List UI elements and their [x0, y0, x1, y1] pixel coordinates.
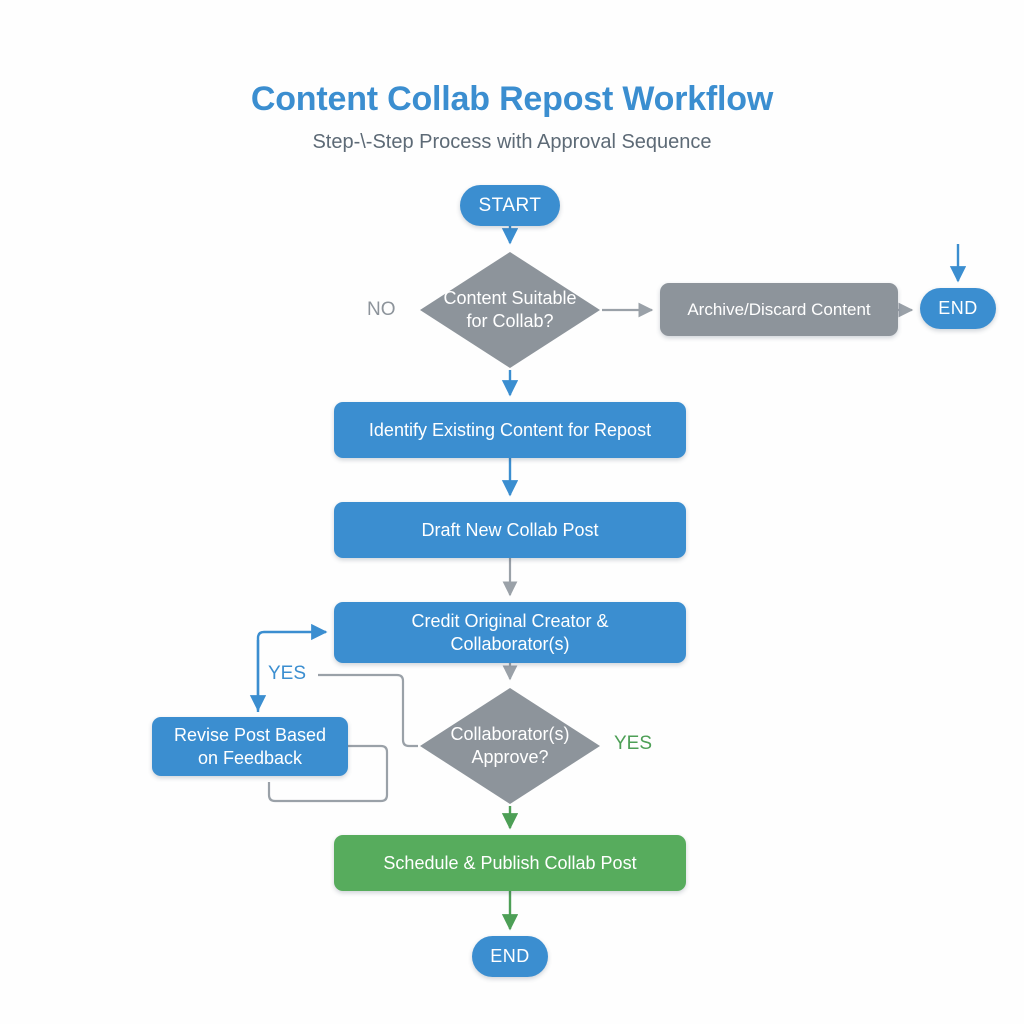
edge-label-no: NO: [367, 299, 396, 321]
node-credit-original-creator-line1: Credit Original Creator &: [411, 610, 608, 633]
node-credit-original-creator[interactable]: Credit Original Creator & Collaborator(s…: [334, 602, 686, 663]
node-archive-discard[interactable]: Archive/Discard Content: [660, 283, 898, 336]
node-schedule-publish-collab-post[interactable]: Schedule & Publish Collab Post: [334, 835, 686, 891]
node-collaborators-approve-decision[interactable]: Collaborator(s) Approve?: [418, 686, 602, 806]
flowchart-canvas: Content Collab Repost Workflow Step-\-St…: [0, 0, 1024, 1024]
page-title: Content Collab Repost Workflow: [0, 80, 1024, 119]
edge-label-yes-revise: YES: [268, 663, 306, 685]
node-identify-existing-content-label: Identify Existing Content for Repost: [369, 419, 651, 442]
node-start[interactable]: START: [460, 185, 560, 226]
node-draft-new-collab-post[interactable]: Draft New Collab Post: [334, 502, 686, 558]
node-identify-existing-content[interactable]: Identify Existing Content for Repost: [334, 402, 686, 458]
node-credit-original-creator-line2: Collaborator(s): [411, 633, 608, 656]
node-end-top-label: END: [938, 298, 978, 319]
page-subtitle: Step-\-Step Process with Approval Sequen…: [0, 131, 1024, 154]
node-revise-post-line2: on Feedback: [174, 747, 326, 770]
node-schedule-publish-label: Schedule & Publish Collab Post: [383, 852, 636, 875]
node-archive-discard-label: Archive/Discard Content: [687, 299, 870, 320]
node-revise-post-based-on-feedback[interactable]: Revise Post Based on Feedback: [152, 717, 348, 776]
diamond-shape: [418, 686, 602, 806]
node-end-bottom-label: END: [490, 946, 530, 967]
edge-label-yes-publish: YES: [614, 733, 652, 755]
node-draft-new-collab-post-label: Draft New Collab Post: [421, 519, 598, 542]
node-revise-post-line1: Revise Post Based: [174, 724, 326, 747]
node-end-top[interactable]: END: [920, 288, 996, 329]
node-start-label: START: [478, 195, 541, 217]
node-end-bottom[interactable]: END: [472, 936, 548, 977]
diamond-shape: [418, 250, 602, 370]
node-content-suitable-decision[interactable]: Content Suitable for Collab?: [418, 250, 602, 370]
